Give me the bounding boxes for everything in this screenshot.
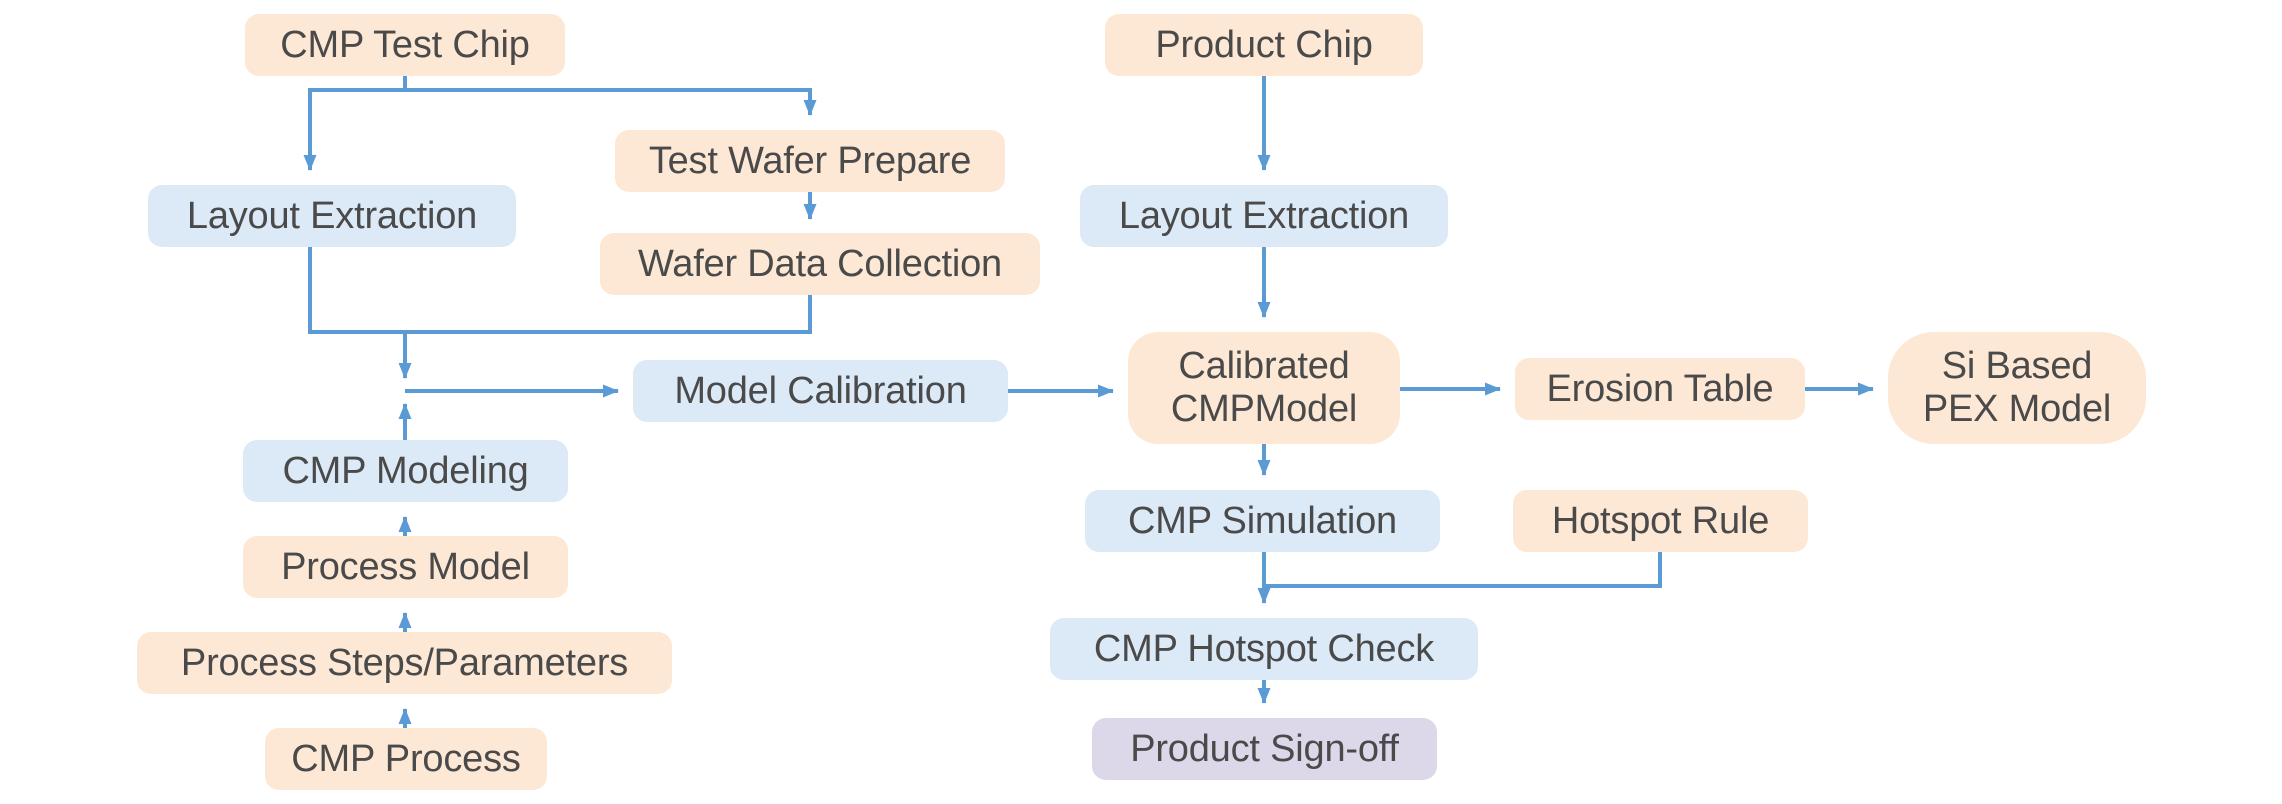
node-wafer-data-collection[interactable]: Wafer Data Collection [600,233,1040,295]
node-label: Wafer Data Collection [638,243,1002,286]
edge-cmp-test-chip-to-test-wafer-prepare [405,76,810,115]
node-label: Layout Extraction [187,195,477,238]
node-model-calibration[interactable]: Model Calibration [633,360,1008,422]
node-label: Erosion Table [1547,368,1774,411]
node-erosion-table[interactable]: Erosion Table [1515,358,1805,420]
node-label: Process Model [281,546,530,589]
node-hotspot-rule[interactable]: Hotspot Rule [1513,490,1808,552]
node-product-chip[interactable]: Product Chip [1105,14,1423,76]
node-cmp-simulation[interactable]: CMP Simulation [1085,490,1440,552]
node-label: Layout Extraction [1119,195,1409,238]
node-cmp-process[interactable]: CMP Process [265,728,547,790]
node-cmp-hotspot-check[interactable]: CMP Hotspot Check [1050,618,1478,680]
node-label: Test Wafer Prepare [649,140,971,183]
node-label: Si Based PEX Model [1923,345,2111,430]
node-cmp-test-chip[interactable]: CMP Test Chip [245,14,565,76]
node-label: Process Steps/Parameters [181,642,628,685]
node-label: Product Chip [1155,24,1372,67]
edge-layout-extraction-to-merge [310,247,405,332]
node-calibrated-cmpmodel[interactable]: Calibrated CMPModel [1128,332,1400,444]
node-label: Hotspot Rule [1552,500,1769,543]
node-label: CMP Test Chip [280,24,529,67]
node-layout-extraction-left[interactable]: Layout Extraction [148,185,516,247]
node-layout-extraction-right[interactable]: Layout Extraction [1080,185,1448,247]
node-product-sign-off[interactable]: Product Sign-off [1092,718,1437,780]
node-si-based-pex-model[interactable]: Si Based PEX Model [1888,332,2146,444]
node-label: CMP Hotspot Check [1094,628,1434,671]
edge-wafer-data-collection-to-merge [405,295,810,332]
flowchart-canvas: CMP Test Chip Test Wafer Prepare Wafer D… [0,0,2282,804]
node-label: CMP Modeling [282,450,528,493]
node-process-model[interactable]: Process Model [243,536,568,598]
node-label: Model Calibration [674,370,966,413]
edge-hotspot-rule-to-cmp-hotspot-check [1264,552,1660,586]
node-label: Calibrated CMPModel [1171,345,1357,430]
node-process-steps-parameters[interactable]: Process Steps/Parameters [137,632,672,694]
node-label: CMP Process [291,738,520,781]
edge-cmp-test-chip-to-layout-extraction [310,76,405,170]
node-test-wafer-prepare[interactable]: Test Wafer Prepare [615,130,1005,192]
node-cmp-modeling[interactable]: CMP Modeling [243,440,568,502]
node-label: Product Sign-off [1130,728,1399,771]
node-label: CMP Simulation [1128,500,1397,543]
